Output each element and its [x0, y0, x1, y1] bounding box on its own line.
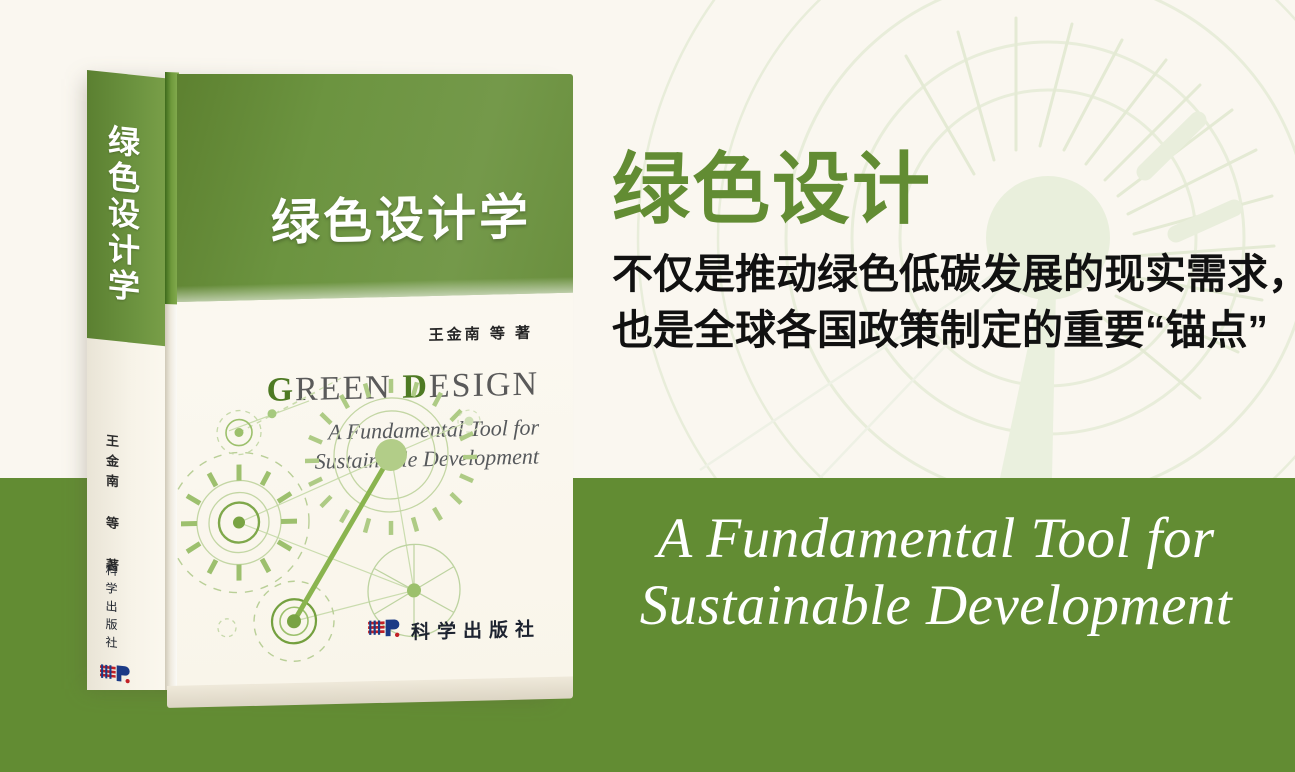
- book-cover-gear-network-artwork: [177, 365, 573, 698]
- promo-headline: 绿色设计: [612, 150, 1282, 230]
- book-cover-author: 王金南 等 著: [429, 322, 533, 345]
- book-cover-title: 绿色设计学: [213, 177, 553, 256]
- book-spine-author: 王金南 等 著: [99, 433, 123, 580]
- promo-english-line-1: A Fundamental Tool for: [596, 505, 1276, 572]
- book-cover-publisher-name: 科学出版社: [411, 614, 541, 644]
- book-front-cover: 绿色设计学 王金南 等 著 GREEN DESIGN A Fundamental…: [177, 74, 573, 698]
- promo-subline-2: 也是全球各国政策制定的重要“锚点”: [612, 302, 1282, 359]
- book-cover-sp-logo: [367, 617, 401, 647]
- promo-english-tagline: A Fundamental Tool for Sustainable Devel…: [596, 505, 1276, 640]
- promo-subline-1: 不仅是推动绿色低碳发展的现实需求，: [612, 246, 1282, 303]
- book-spine-publisher: 科学出版社: [101, 563, 121, 655]
- book-cover-publisher-block: 科学出版社: [367, 613, 541, 646]
- promo-subline: 不仅是推动绿色低碳发展的现实需求， 也是全球各国政策制定的重要“锚点”: [612, 246, 1282, 359]
- promo-english-line-2: Sustainable Development: [596, 572, 1276, 639]
- book-mockup: 绿色设计学 王金南 等 著 科学出版社 绿色设计学: [73, 62, 573, 702]
- book-front-cover-surface: 绿色设计学 王金南 等 著 GREEN DESIGN A Fundamental…: [177, 74, 573, 698]
- book-spine-sp-logo: [99, 662, 131, 689]
- promo-text-column: 绿色设计 不仅是推动绿色低碳发展的现实需求， 也是全球各国政策制定的重要“锚点”: [612, 150, 1282, 359]
- book-spine-title: 绿色设计学: [91, 121, 139, 306]
- promo-banner: 绿色设计 不仅是推动绿色低碳发展的现实需求， 也是全球各国政策制定的重要“锚点”…: [0, 0, 1295, 772]
